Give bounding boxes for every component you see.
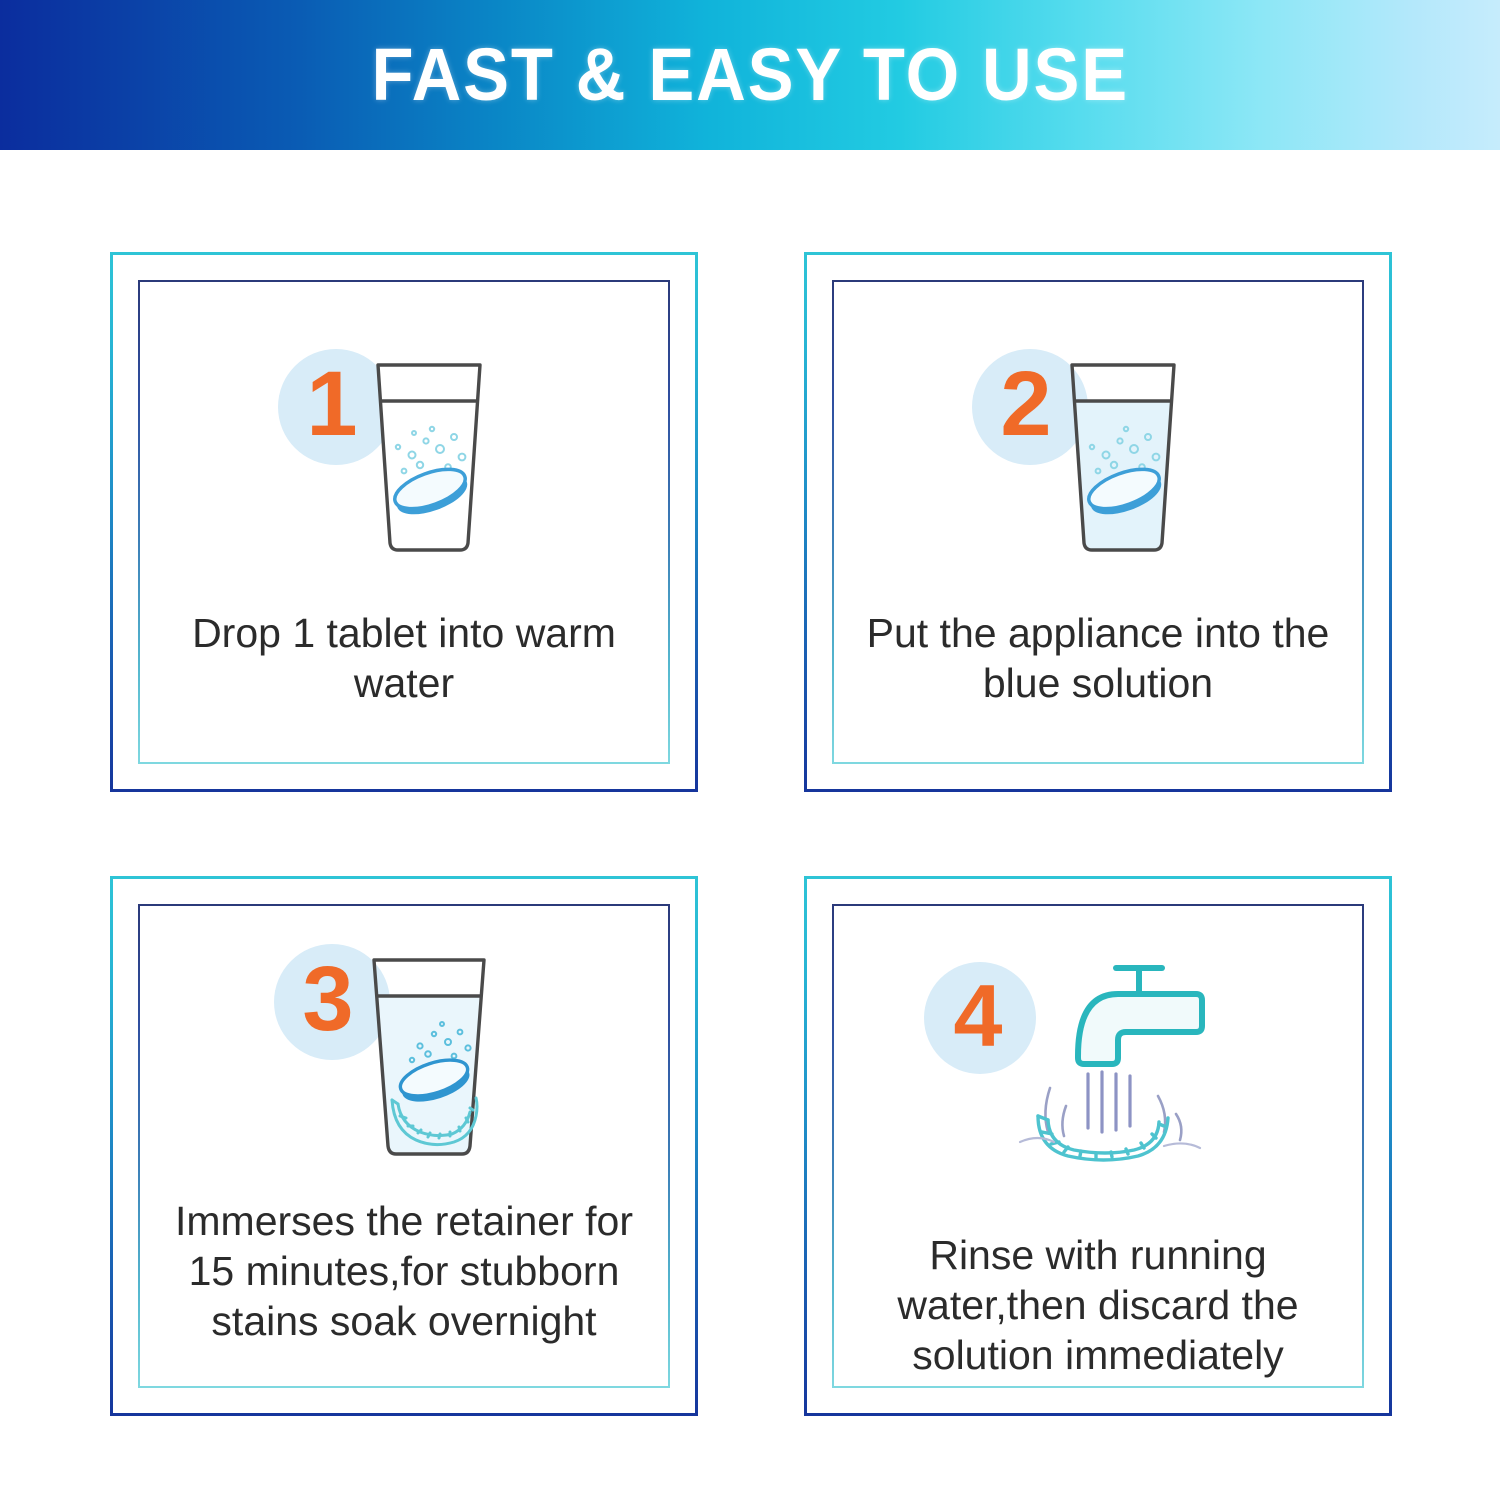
card-3-content: 3: [140, 906, 668, 1386]
step-1-number: 1: [306, 353, 357, 455]
steps-grid: 1: [110, 252, 1392, 1416]
step-card-2: 2: [804, 252, 1392, 792]
card-4-content: 4: [834, 906, 1362, 1386]
card-1-inner-frame: 1: [138, 280, 670, 764]
header-banner: FAST & EASY TO USE: [0, 0, 1500, 150]
step-3-caption: Immerses the retainer for 15 minutes,for…: [140, 1196, 668, 1346]
step-3-number: 3: [302, 948, 353, 1050]
glass-with-retainer-icon: 3: [140, 928, 668, 1178]
step-2-number: 2: [1000, 353, 1051, 455]
card-2-content: 2: [834, 282, 1362, 762]
card-2-inner-frame: 2: [832, 280, 1364, 764]
step-1-caption: Drop 1 tablet into warm water: [140, 608, 668, 708]
faucet-rinsing-retainer-icon: 4: [834, 936, 1362, 1186]
glass-with-blue-solution-icon: 2: [834, 324, 1362, 574]
card-3-inner-frame: 3: [138, 904, 670, 1388]
step-card-3: 3: [110, 876, 698, 1416]
card-1-content: 1: [140, 282, 668, 762]
step-card-4: 4: [804, 876, 1392, 1416]
step-2-caption: Put the appliance into the blue solution: [834, 608, 1362, 708]
step-4-caption: Rinse with running water,then discard th…: [834, 1230, 1362, 1380]
card-4-inner-frame: 4: [832, 904, 1364, 1388]
step-card-1: 1: [110, 252, 698, 792]
step-4-number: 4: [954, 966, 1003, 1065]
page-title: FAST & EASY TO USE: [371, 38, 1129, 112]
glass-with-tablet-icon: 1: [140, 324, 668, 574]
infographic-page: FAST & EASY TO USE 1: [0, 0, 1500, 1500]
